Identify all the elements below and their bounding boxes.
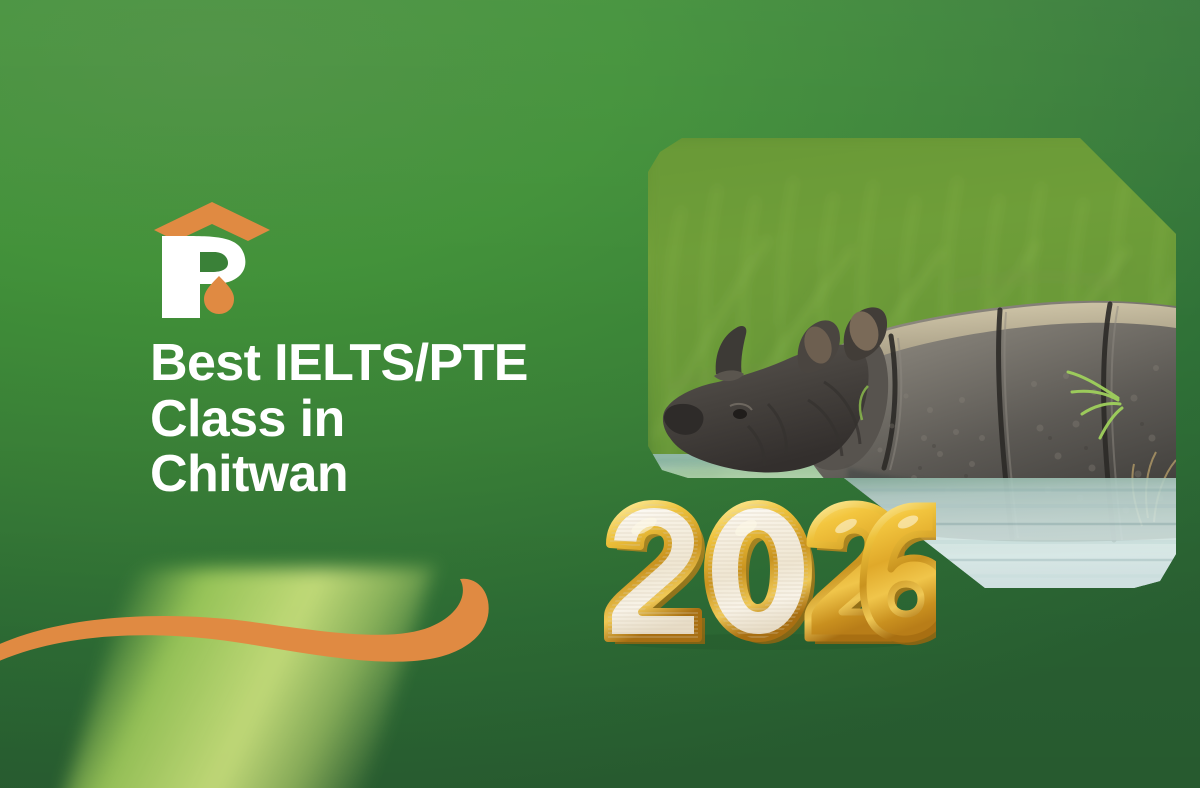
rhino-eye bbox=[733, 409, 747, 419]
brand-logo[interactable] bbox=[152, 200, 272, 318]
page-title: Best IELTS/PTE Class in Chitwan bbox=[150, 336, 620, 503]
year-digit-2-first bbox=[608, 504, 705, 644]
year-badge-2026 bbox=[596, 492, 936, 652]
logo-bowl-counter bbox=[200, 252, 228, 272]
promo-banner: Best IELTS/PTE Class in Chitwan bbox=[0, 0, 1200, 788]
orange-swoosh-decoration bbox=[0, 555, 500, 680]
graduation-cap-icon bbox=[154, 202, 270, 241]
logo-letter-shape bbox=[162, 236, 182, 318]
headline-line-2: Class in bbox=[150, 392, 620, 448]
year-digit-0 bbox=[708, 504, 815, 644]
headline-line-3: Chitwan bbox=[150, 447, 620, 503]
headline-line-1: Best IELTS/PTE bbox=[150, 336, 620, 392]
